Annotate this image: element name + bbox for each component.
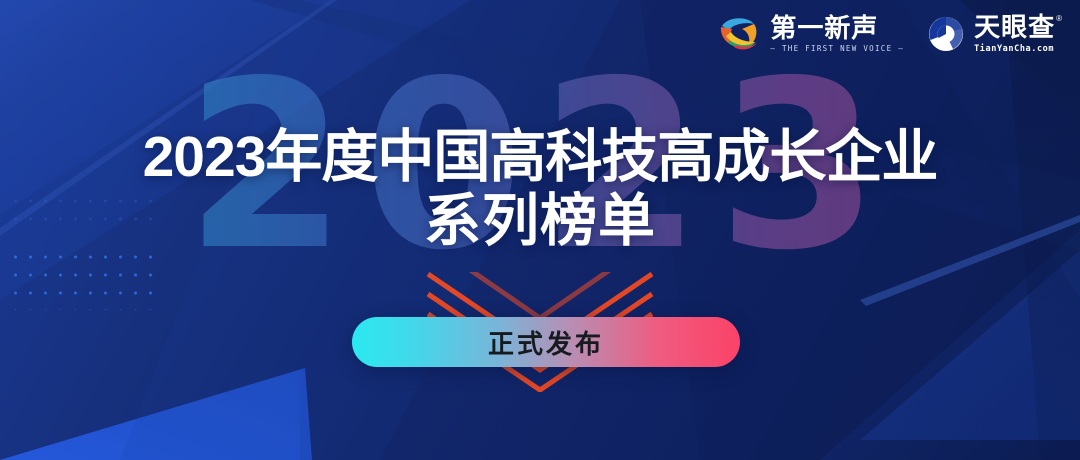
swirl-ribbon-icon bbox=[718, 14, 762, 54]
aperture-icon bbox=[926, 14, 966, 54]
headline-line-2: 系列榜单 bbox=[0, 192, 1080, 250]
promo-banner: 2023 2023年度中国高科技高成长企业 系列榜单 正式发布 bbox=[0, 0, 1080, 460]
logo-tianyancha[interactable]: 天眼查 ® TianYanCha.com bbox=[926, 14, 1062, 54]
logo-tianyancha-registered-mark: ® bbox=[1056, 14, 1062, 23]
release-badge[interactable]: 正式发布 bbox=[352, 317, 740, 367]
logo-tianyancha-domain: TianYanCha.com bbox=[974, 44, 1062, 54]
logo-diyixinsheng-tagline: — THE FIRST NEW VOICE — bbox=[770, 44, 904, 53]
logo-diyixinsheng[interactable]: 第一新声 — THE FIRST NEW VOICE — bbox=[718, 14, 904, 54]
page-title: 2023年度中国高科技高成长企业 系列榜单 bbox=[0, 128, 1080, 250]
logo-bar: 第一新声 — THE FIRST NEW VOICE — 天眼查 ® TianY… bbox=[718, 14, 1062, 54]
logo-tianyancha-name: 天眼查 bbox=[974, 14, 1055, 41]
headline-line-1: 2023年度中国高科技高成长企业 bbox=[0, 128, 1080, 186]
release-badge-label: 正式发布 bbox=[488, 324, 604, 361]
logo-diyixinsheng-name: 第一新声 bbox=[770, 15, 904, 42]
